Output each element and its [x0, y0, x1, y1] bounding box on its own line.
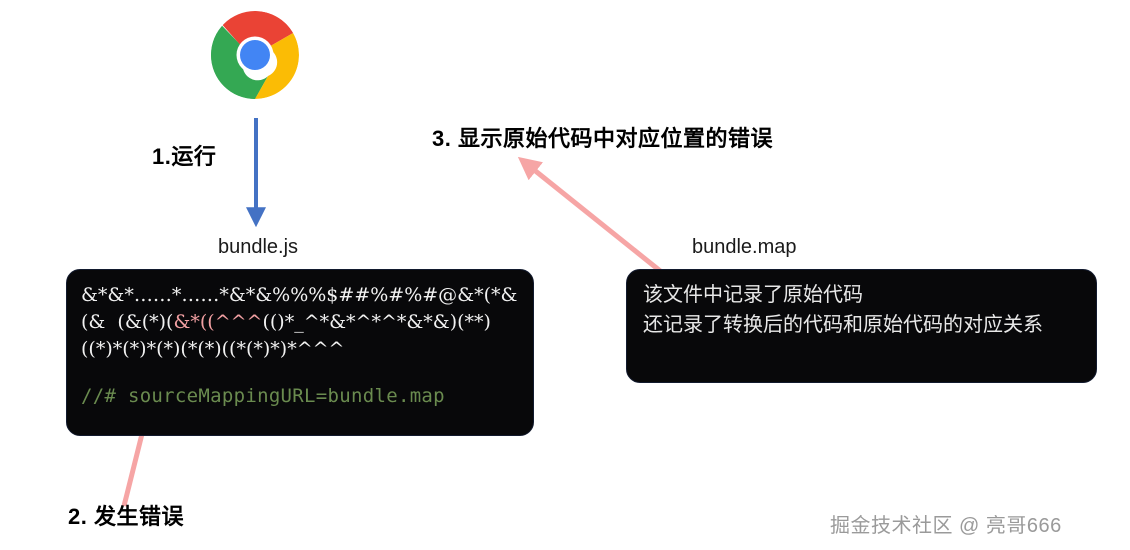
code-line-2-highlight: &*((^^^ — [173, 311, 262, 333]
step2-label: 2. 发生错误 — [68, 503, 184, 531]
code-line-2-prefix: (&(*)( — [105, 311, 173, 333]
code-line-3: *(*)*(*)(*(*)((*(*)*)*^^^ — [113, 338, 345, 360]
bundle-map-description-box: 该文件中记录了原始代码 还记录了转换后的代码和原始代码的对应关系 — [626, 269, 1097, 383]
map-description-line-2: 还记录了转换后的代码和原始代码的对应关系 — [643, 311, 1080, 341]
arrow-map-to-step3 — [528, 165, 664, 274]
bundle-js-label: bundle.js — [218, 235, 298, 260]
chrome-logo — [205, 5, 305, 105]
step1-label: 1.运行 — [152, 143, 216, 171]
code-obfuscated-text: &*&*……*……*&*&%%%$##%#%#@&*(*&(& (&(*)(&*… — [81, 282, 519, 363]
bundle-js-code-box: &*&*……*……*&*&%%%$##%#%#@&*(*&(& (&(*)(&*… — [66, 269, 534, 436]
step3-label: 3. 显示原始代码中对应位置的错误 — [432, 125, 773, 153]
map-description-line-1: 该文件中记录了原始代码 — [643, 281, 1080, 311]
watermark: 掘金技术社区 @ 亮哥666 — [830, 509, 1062, 538]
bundle-map-label: bundle.map — [692, 235, 797, 260]
sourcemapping-comment: //# sourceMappingURL=bundle.map — [81, 385, 519, 407]
diagram-canvas: 1.运行 3. 显示原始代码中对应位置的错误 2. 发生错误 bundle.js… — [0, 0, 1130, 550]
